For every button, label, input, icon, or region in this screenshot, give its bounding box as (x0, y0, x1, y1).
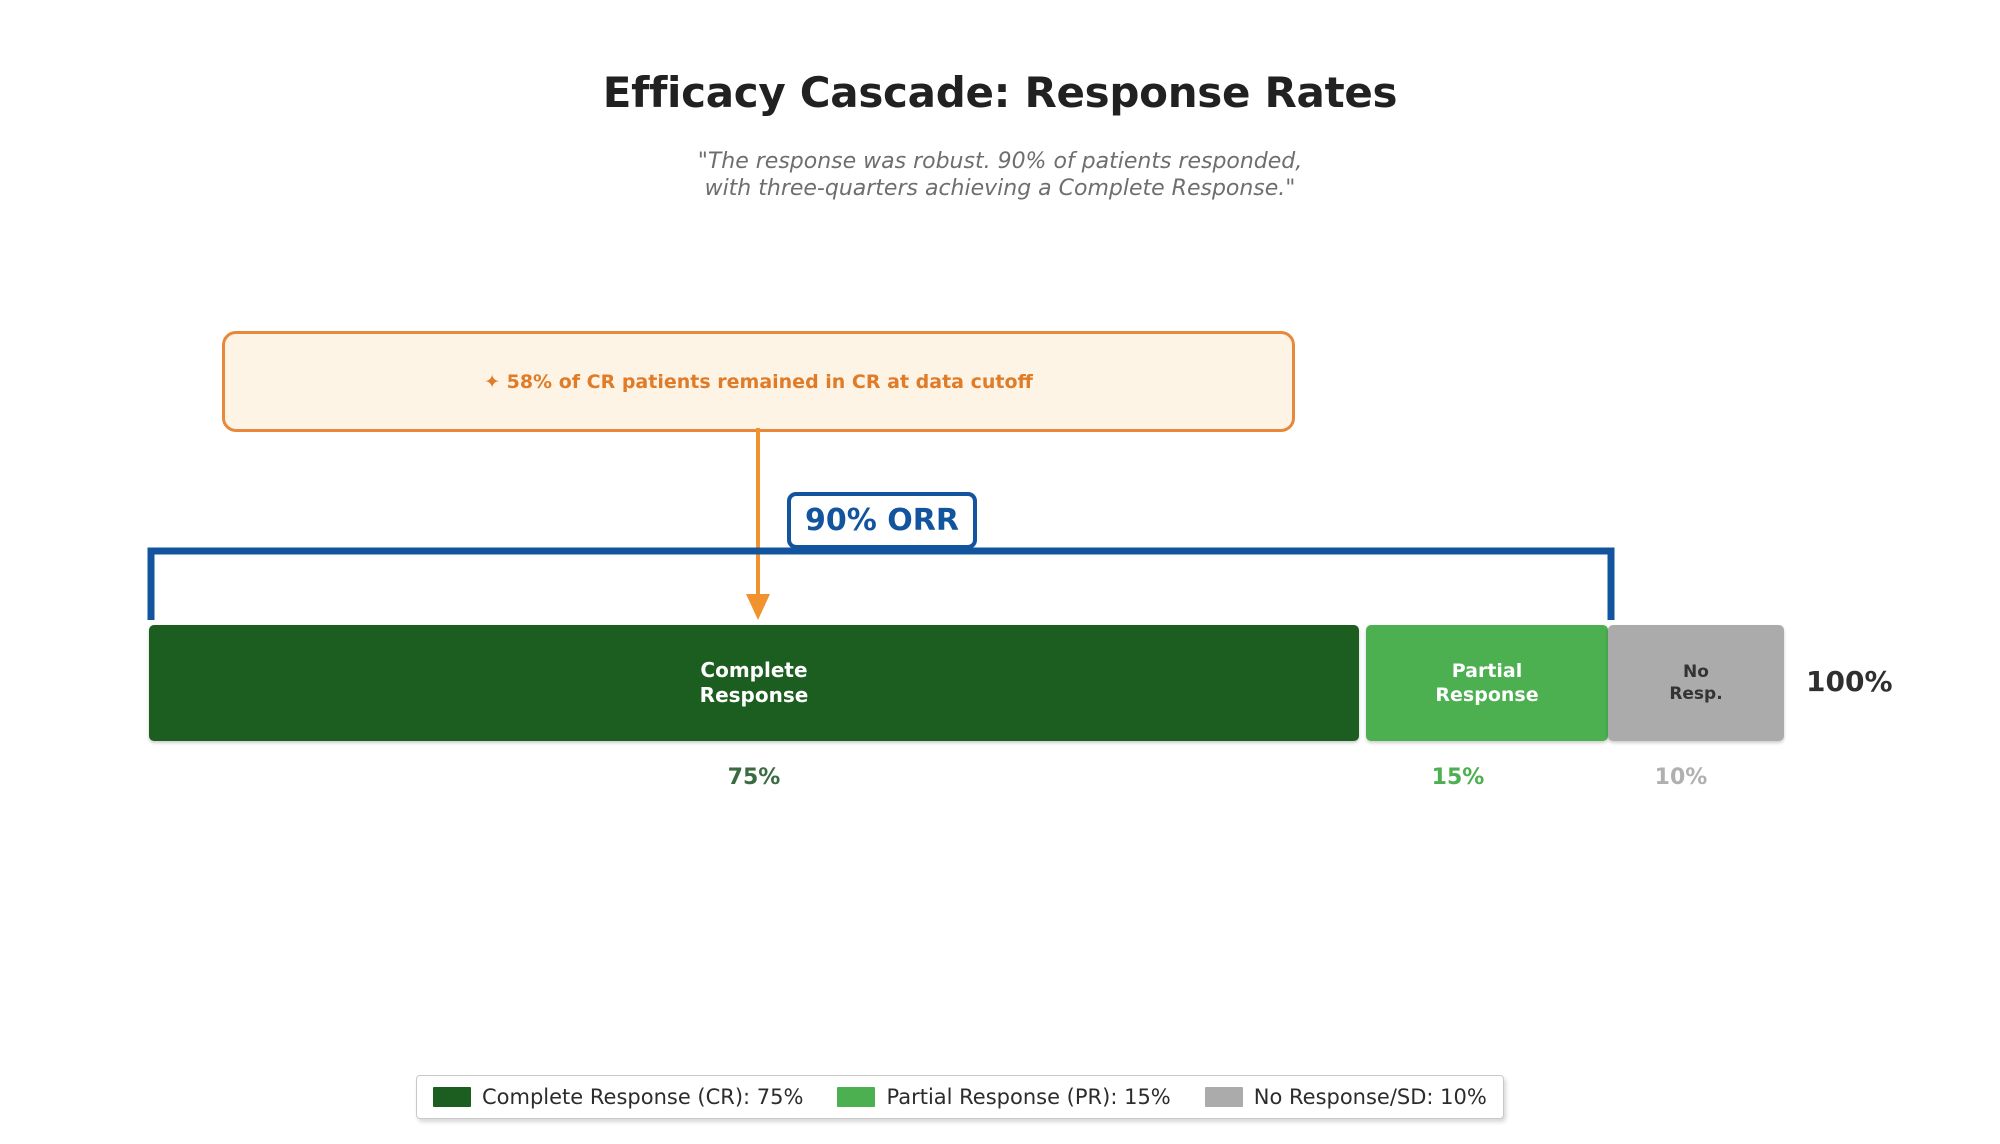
chart-subtitle-line-1: "The response was robust. 90% of patient… (0, 148, 2000, 175)
bar-segment-partial-response[interactable]: PartialResponse (1366, 625, 1608, 741)
legend-label-complete-response: Complete Response (CR): 75% (482, 1085, 803, 1109)
legend-swatch-no-response (1205, 1087, 1243, 1107)
page-title: Efficacy Cascade: Response Rates (0, 68, 2000, 117)
bar-segment-no-response[interactable]: NoResp. (1608, 625, 1784, 741)
bar-value-partial-response: 15% (1340, 765, 1576, 790)
legend-item-partial-response[interactable]: Partial Response (PR): 15% (837, 1085, 1170, 1109)
legend-swatch-partial-response (837, 1087, 875, 1107)
pr-label-line-1: Partial (1452, 660, 1523, 682)
chart-subtitle-line-2: with three-quarters achieving a Complete… (0, 175, 2000, 202)
annotation-callout-label: ✦ 58% of CR patients remained in CR at d… (484, 371, 1033, 393)
legend-item-complete-response[interactable]: Complete Response (CR): 75% (433, 1085, 803, 1109)
pr-label-line-2: Response (1435, 684, 1538, 706)
bar-segment-complete-response-label: CompleteResponse (700, 658, 809, 708)
legend-label-no-response: No Response/SD: 10% (1254, 1085, 1487, 1109)
bar-value-complete-response: 75% (604, 765, 904, 790)
bar-segment-no-response-label: NoResp. (1669, 661, 1722, 705)
cr-label-line-1: Complete (700, 658, 807, 682)
cr-label-line-2: Response (700, 683, 809, 707)
orr-badge: 90% ORR (787, 492, 977, 549)
bar-segment-complete-response[interactable]: CompleteResponse (149, 625, 1359, 741)
legend-swatch-complete-response (433, 1087, 471, 1107)
bar-value-no-response: 10% (1593, 765, 1769, 790)
legend-item-no-response[interactable]: No Response/SD: 10% (1205, 1085, 1487, 1109)
chart-canvas: Efficacy Cascade: Response Rates "The re… (0, 0, 2000, 1144)
orr-bracket-icon (140, 540, 1622, 630)
annotation-callout-box: ✦ 58% of CR patients remained in CR at d… (222, 331, 1295, 432)
chart-legend: Complete Response (CR): 75% Partial Resp… (416, 1075, 1504, 1119)
bar-segment-partial-response-label: PartialResponse (1435, 659, 1538, 707)
chart-subtitle: "The response was robust. 90% of patient… (0, 148, 2000, 202)
stacked-bar: CompleteResponse PartialResponse NoResp. (149, 625, 1784, 741)
orr-badge-label: 90% ORR (805, 503, 959, 538)
total-percentage-label: 100% (1806, 665, 1893, 698)
nr-label-line-1: No (1683, 662, 1709, 682)
nr-label-line-2: Resp. (1669, 684, 1722, 704)
legend-label-partial-response: Partial Response (PR): 15% (886, 1085, 1170, 1109)
